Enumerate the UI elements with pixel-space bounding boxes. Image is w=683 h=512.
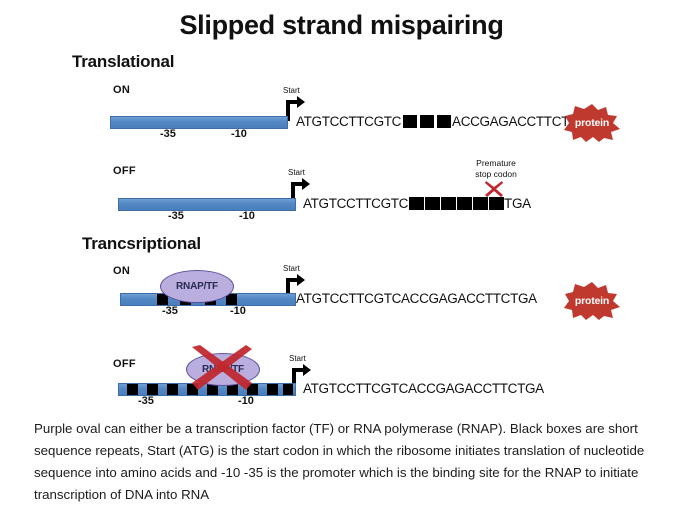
state-label-transcriptional-off: OFF — [113, 358, 136, 370]
sequence-row4: ATGTCCTTCGTCACCGAGACCTTCTGA — [303, 381, 544, 396]
repeat-box — [167, 384, 178, 395]
protein-badge-row1: protein — [563, 103, 621, 143]
dna-bar-row1 — [110, 116, 288, 129]
red-cross-icon-row2 — [484, 180, 504, 203]
rnap-tf-oval-label-row3: RNAP/TF — [176, 281, 218, 292]
promoter-tick-10-row3: -10 — [230, 305, 246, 317]
promoter-tick-35-row4: -35 — [138, 395, 154, 407]
section-heading-translational: Translational — [72, 52, 174, 72]
protein-badge-label-row3: protein — [575, 295, 609, 307]
repeat-box — [409, 197, 424, 210]
repeat-box — [441, 197, 456, 210]
promoter-tick-35-row3: -35 — [162, 305, 178, 317]
repeat-box — [437, 115, 451, 128]
repeat-box — [283, 384, 293, 395]
premature-stop-note-line2: stop codon — [475, 169, 517, 179]
sequence-row1: ATGTCCTTCGTCACCGAGACCTTCTGA — [296, 114, 588, 129]
promoter-tick-35-row2: -35 — [168, 210, 184, 222]
sequence-suffix-row2: TGA — [504, 196, 531, 211]
repeat-box — [267, 384, 278, 395]
slide-canvas: Slipped strand mispairing Translational … — [0, 0, 683, 512]
premature-stop-note: Premature stop codon — [448, 158, 544, 180]
repeat-box — [457, 197, 472, 210]
caption-text: Purple oval can either be a transcriptio… — [34, 418, 652, 506]
repeat-box — [147, 384, 158, 395]
state-label-translational-off: OFF — [113, 165, 136, 177]
promoter-tick-10-row1: -10 — [231, 128, 247, 140]
repeat-box — [420, 115, 434, 128]
promoter-tick-10-row4: -10 — [238, 395, 254, 407]
state-label-translational-on: ON — [113, 84, 130, 96]
page-title: Slipped strand mispairing — [0, 10, 683, 41]
promoter-tick-10-row2: -10 — [239, 210, 255, 222]
repeat-box — [403, 115, 417, 128]
state-label-transcriptional-on: ON — [113, 265, 130, 277]
sequence-prefix-row2: ATGTCCTTCGTC — [303, 196, 408, 211]
section-heading-transcriptional: Trancsriptional — [82, 234, 201, 254]
promoter-tick-35-row1: -35 — [160, 128, 176, 140]
red-cross-icon-row4 — [188, 345, 256, 396]
protein-badge-row3: protein — [563, 281, 621, 321]
dna-bar-row2 — [118, 198, 296, 211]
repeat-box — [127, 384, 138, 395]
repeat-box — [425, 197, 440, 210]
premature-stop-note-line1: Premature — [476, 158, 516, 168]
sequence-row3: ATGTCCTTCGTCACCGAGACCTTCTGA — [296, 291, 537, 306]
protein-badge-label-row1: protein — [575, 117, 609, 129]
rnap-tf-oval-row3: RNAP/TF — [160, 270, 234, 303]
sequence-prefix-row1: ATGTCCTTCGTC — [296, 114, 401, 129]
